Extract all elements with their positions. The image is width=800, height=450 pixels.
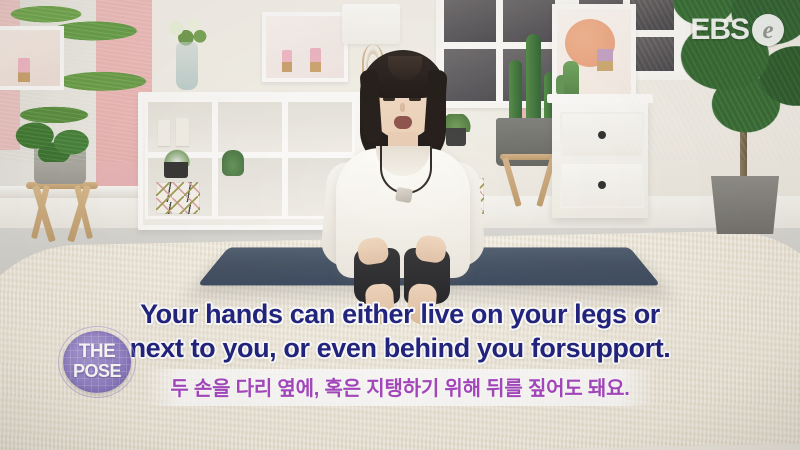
glass-vase (176, 42, 198, 90)
the-pose-badge: THE POSE (58, 326, 136, 398)
badge-body: THE POSE (63, 331, 131, 393)
badge-line1: THE (79, 343, 116, 362)
badge-line2: POSE (73, 363, 121, 381)
ebs-logo: EBS e (690, 14, 784, 46)
shelf-cube (215, 99, 285, 155)
subtitle-korean-line1: 두 손을 다리 옆에, 혹은 지탱하기 위해 뒤를 짚어도 돼요. (144, 369, 655, 406)
necklace-pendant (395, 187, 413, 204)
small-plant-pot (164, 162, 188, 178)
tree-planter (708, 176, 782, 234)
storage-box (156, 182, 200, 214)
floor-lamp-shade (342, 4, 400, 44)
framed-art-left (0, 26, 64, 90)
broadcast-frame: EBS e Your hands can either live on your… (0, 0, 800, 450)
nightstand-drawer (560, 162, 644, 208)
wooden-stool (26, 182, 98, 240)
subtitle-english-line1: Your hands can either live on your legs … (0, 300, 800, 329)
shelf-cube (145, 99, 215, 155)
ebs-wordmark: EBS (690, 15, 749, 45)
yoga-instructor (318, 40, 488, 300)
figurine (158, 120, 170, 146)
mouth (394, 116, 412, 129)
small-cactus (222, 150, 244, 176)
drawer-knob-icon (598, 181, 606, 189)
nose (400, 103, 405, 112)
cactus-stool (500, 158, 560, 208)
drawer-knob-icon (598, 131, 606, 139)
ebs-e-icon: e (752, 14, 784, 46)
window-pane (444, 0, 496, 42)
art-lamp (597, 49, 613, 71)
figurine (176, 118, 189, 146)
